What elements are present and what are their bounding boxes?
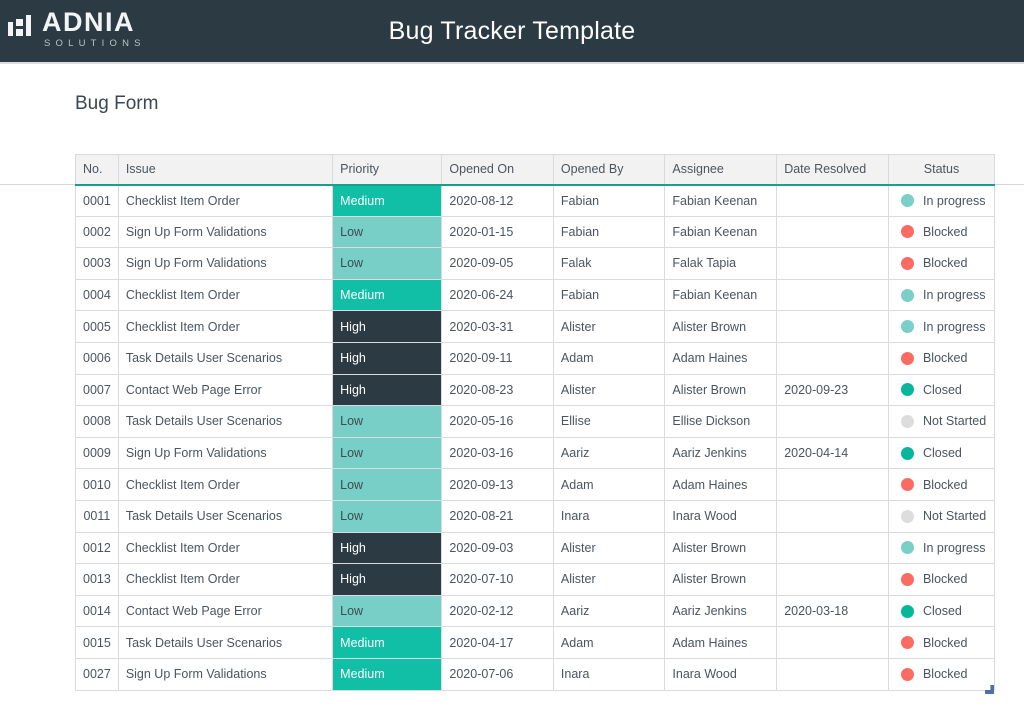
cell-date-resolved[interactable] <box>777 248 889 280</box>
cell-opened-by[interactable]: Inara <box>553 658 664 690</box>
column-header-opened-on[interactable]: Opened On <box>442 155 554 185</box>
cell-assignee[interactable]: Adam Haines <box>665 469 777 501</box>
column-header-status[interactable]: Status <box>888 155 994 185</box>
cell-opened-on[interactable]: 2020-03-31 <box>442 311 554 343</box>
cell-priority[interactable]: High <box>333 342 442 374</box>
status-dot-icon <box>901 194 914 207</box>
cell-date-resolved[interactable] <box>777 279 889 311</box>
status-label: Closed <box>923 604 962 618</box>
cell-no[interactable]: 0014 <box>76 595 119 627</box>
cell-no[interactable]: 0013 <box>76 564 119 596</box>
status-dot-icon <box>901 352 914 365</box>
cell-opened-on[interactable]: 2020-09-13 <box>442 469 554 501</box>
status-dot-icon <box>901 605 914 618</box>
cell-no[interactable]: 0012 <box>76 532 119 564</box>
status-dot-icon <box>901 573 914 586</box>
cell-no[interactable]: 0005 <box>76 311 119 343</box>
cell-issue[interactable]: Checklist Item Order <box>118 532 332 564</box>
bug-form-table: No. Issue Priority Opened On Opened By A… <box>75 154 995 691</box>
column-header-issue[interactable]: Issue <box>118 155 332 185</box>
cell-date-resolved[interactable] <box>777 342 889 374</box>
cell-opened-by[interactable]: Fabian <box>553 279 664 311</box>
cell-opened-by[interactable]: Alister <box>553 532 664 564</box>
cell-date-resolved[interactable]: 2020-03-18 <box>777 595 889 627</box>
status-dot-icon <box>901 447 914 460</box>
cell-opened-on[interactable]: 2020-07-10 <box>442 564 554 596</box>
cell-opened-by[interactable]: Adam <box>553 342 664 374</box>
cell-issue[interactable]: Checklist Item Order <box>118 279 332 311</box>
table-row[interactable]: 0006Task Details User ScenariosHigh2020-… <box>76 342 995 374</box>
cell-opened-by[interactable]: Aariz <box>553 437 664 469</box>
status-dot-icon <box>901 320 914 333</box>
status-label: Blocked <box>923 636 967 650</box>
cell-no[interactable]: 0001 <box>76 185 119 217</box>
cell-assignee[interactable]: Aariz Jenkins <box>665 437 777 469</box>
cell-no[interactable]: 0004 <box>76 279 119 311</box>
cell-opened-by[interactable]: Ellise <box>553 406 664 438</box>
cell-issue[interactable]: Sign Up Form Validations <box>118 437 332 469</box>
status-label: Not Started <box>923 509 986 523</box>
cell-priority[interactable]: High <box>333 564 442 596</box>
table-body: 0001Checklist Item OrderMedium2020-08-12… <box>76 185 995 691</box>
cell-status[interactable]: In progress <box>888 279 994 311</box>
cell-assignee[interactable]: Fabian Keenan <box>665 216 777 248</box>
cell-assignee[interactable]: Alister Brown <box>665 532 777 564</box>
cell-no[interactable]: 0006 <box>76 342 119 374</box>
table-row[interactable]: 0007Contact Web Page ErrorHigh2020-08-23… <box>76 374 995 406</box>
cell-assignee[interactable]: Adam Haines <box>665 627 777 659</box>
cell-priority[interactable]: Low <box>333 216 442 248</box>
cell-priority[interactable]: Medium <box>333 627 442 659</box>
cell-assignee[interactable]: Falak Tapia <box>665 248 777 280</box>
cell-date-resolved[interactable]: 2020-09-23 <box>777 374 889 406</box>
cell-status[interactable]: In progress <box>888 532 994 564</box>
cell-opened-by[interactable]: Falak <box>553 248 664 280</box>
cell-opened-on[interactable]: 2020-07-06 <box>442 658 554 690</box>
status-label: Closed <box>923 383 962 397</box>
cell-date-resolved[interactable] <box>777 658 889 690</box>
status-dot-icon <box>901 415 914 428</box>
cell-opened-on[interactable]: 2020-09-11 <box>442 342 554 374</box>
cell-no[interactable]: 0002 <box>76 216 119 248</box>
cell-priority[interactable]: Low <box>333 500 442 532</box>
table-row[interactable]: 0011Task Details User ScenariosLow2020-0… <box>76 500 995 532</box>
cell-opened-on[interactable]: 2020-08-23 <box>442 374 554 406</box>
status-label: Blocked <box>923 256 967 270</box>
cell-issue[interactable]: Contact Web Page Error <box>118 595 332 627</box>
cell-issue[interactable]: Checklist Item Order <box>118 311 332 343</box>
cell-assignee[interactable]: Ellise Dickson <box>665 406 777 438</box>
table-row[interactable]: 0010Checklist Item OrderLow2020-09-13Ada… <box>76 469 995 501</box>
column-header-opened-by[interactable]: Opened By <box>553 155 664 185</box>
cell-opened-by[interactable]: Adam <box>553 469 664 501</box>
status-dot-icon <box>901 510 914 523</box>
status-label: Blocked <box>923 478 967 492</box>
status-dot-icon <box>901 225 914 238</box>
cell-status[interactable]: Blocked <box>888 342 994 374</box>
cell-opened-by[interactable]: Fabian <box>553 216 664 248</box>
column-header-priority[interactable]: Priority <box>333 155 442 185</box>
table-row[interactable]: 0005Checklist Item OrderHigh2020-03-31Al… <box>76 311 995 343</box>
cell-issue[interactable]: Sign Up Form Validations <box>118 248 332 280</box>
cell-no[interactable]: 0009 <box>76 437 119 469</box>
cell-opened-on[interactable]: 2020-03-16 <box>442 437 554 469</box>
table-row[interactable]: 0013Checklist Item OrderHigh2020-07-10Al… <box>76 564 995 596</box>
table-row[interactable]: 0027Sign Up Form ValidationsMedium2020-0… <box>76 658 995 690</box>
left-rule <box>0 184 75 185</box>
status-dot-icon <box>901 478 914 491</box>
cell-date-resolved[interactable] <box>777 532 889 564</box>
cell-no[interactable]: 0015 <box>76 627 119 659</box>
header-divider <box>0 62 1024 64</box>
column-header-date-resolved[interactable]: Date Resolved <box>777 155 889 185</box>
cell-opened-by[interactable]: Alister <box>553 564 664 596</box>
cell-status[interactable]: Closed <box>888 374 994 406</box>
cell-date-resolved[interactable] <box>777 311 889 343</box>
cell-opened-on[interactable]: 2020-06-24 <box>442 279 554 311</box>
page-title: Bug Tracker Template <box>0 0 1024 62</box>
table-row[interactable]: 0015Task Details User ScenariosMedium202… <box>76 627 995 659</box>
cell-status[interactable]: Blocked <box>888 627 994 659</box>
cell-issue[interactable]: Task Details User Scenarios <box>118 406 332 438</box>
table-row[interactable]: 0012Checklist Item OrderHigh2020-09-03Al… <box>76 532 995 564</box>
cell-status[interactable]: Blocked <box>888 216 994 248</box>
cell-priority[interactable]: Low <box>333 248 442 280</box>
cell-opened-by[interactable]: Alister <box>553 311 664 343</box>
table-row[interactable]: 0014Contact Web Page ErrorLow2020-02-12A… <box>76 595 995 627</box>
cell-status[interactable]: Not Started <box>888 500 994 532</box>
cell-assignee[interactable]: Adam Haines <box>665 342 777 374</box>
cell-status[interactable]: Closed <box>888 595 994 627</box>
cell-opened-by[interactable]: Aariz <box>553 595 664 627</box>
cell-status[interactable]: Blocked <box>888 658 994 690</box>
table-row[interactable]: 0008Task Details User ScenariosLow2020-0… <box>76 406 995 438</box>
right-rule <box>995 184 1024 185</box>
cell-no[interactable]: 0027 <box>76 658 119 690</box>
cell-status[interactable]: Blocked <box>888 564 994 596</box>
cell-no[interactable]: 0008 <box>76 406 119 438</box>
cell-date-resolved[interactable] <box>777 216 889 248</box>
cell-issue[interactable]: Task Details User Scenarios <box>118 627 332 659</box>
cell-assignee[interactable]: Fabian Keenan <box>665 185 777 217</box>
cell-status[interactable]: Blocked <box>888 469 994 501</box>
status-label: In progress <box>923 288 986 302</box>
cell-status[interactable]: In progress <box>888 311 994 343</box>
cell-opened-on[interactable]: 2020-09-03 <box>442 532 554 564</box>
cell-status[interactable]: In progress <box>888 185 994 217</box>
cell-date-resolved[interactable] <box>777 185 889 217</box>
cell-issue[interactable]: Contact Web Page Error <box>118 374 332 406</box>
cell-opened-on[interactable]: 2020-09-05 <box>442 248 554 280</box>
cell-date-resolved[interactable] <box>777 564 889 596</box>
cell-issue[interactable]: Task Details User Scenarios <box>118 500 332 532</box>
cell-priority[interactable]: Medium <box>333 185 442 217</box>
cell-status[interactable]: Closed <box>888 437 994 469</box>
cell-opened-on[interactable]: 2020-01-15 <box>442 216 554 248</box>
status-dot-icon <box>901 668 914 681</box>
cell-priority[interactable]: High <box>333 374 442 406</box>
cell-issue[interactable]: Checklist Item Order <box>118 469 332 501</box>
column-header-no[interactable]: No. <box>76 155 119 185</box>
cell-priority[interactable]: Low <box>333 469 442 501</box>
app-header-bar: ADNIA SOLUTIONS Bug Tracker Template <box>0 0 1024 62</box>
cell-priority[interactable]: Low <box>333 437 442 469</box>
cell-opened-by[interactable]: Alister <box>553 374 664 406</box>
cell-opened-by[interactable]: Inara <box>553 500 664 532</box>
cell-opened-on[interactable]: 2020-04-17 <box>442 627 554 659</box>
cell-date-resolved[interactable]: 2020-04-14 <box>777 437 889 469</box>
status-dot-icon <box>901 257 914 270</box>
status-label: Blocked <box>923 225 967 239</box>
status-label: In progress <box>923 541 986 555</box>
cell-date-resolved[interactable] <box>777 406 889 438</box>
table-row[interactable]: 0004Checklist Item OrderMedium2020-06-24… <box>76 279 995 311</box>
cell-opened-on[interactable]: 2020-05-16 <box>442 406 554 438</box>
table-row[interactable]: 0009Sign Up Form ValidationsLow2020-03-1… <box>76 437 995 469</box>
cell-issue[interactable]: Task Details User Scenarios <box>118 342 332 374</box>
cell-status[interactable]: Blocked <box>888 248 994 280</box>
cell-priority[interactable]: Low <box>333 406 442 438</box>
status-dot-icon <box>901 636 914 649</box>
cell-assignee[interactable]: Alister Brown <box>665 311 777 343</box>
cell-assignee[interactable]: Fabian Keenan <box>665 279 777 311</box>
cell-issue[interactable]: Sign Up Form Validations <box>118 216 332 248</box>
table-row[interactable]: 0001Checklist Item OrderMedium2020-08-12… <box>76 185 995 217</box>
status-label: Blocked <box>923 351 967 365</box>
cell-date-resolved[interactable] <box>777 469 889 501</box>
status-label: Not Started <box>923 414 986 428</box>
cell-opened-on[interactable]: 2020-08-21 <box>442 500 554 532</box>
column-header-assignee[interactable]: Assignee <box>665 155 777 185</box>
cell-opened-on[interactable]: 2020-02-12 <box>442 595 554 627</box>
status-label: In progress <box>923 194 986 208</box>
section-title: Bug Form <box>75 93 158 115</box>
cell-priority[interactable]: High <box>333 311 442 343</box>
cell-date-resolved[interactable] <box>777 627 889 659</box>
cell-no[interactable]: 0007 <box>76 374 119 406</box>
cell-priority[interactable]: Low <box>333 595 442 627</box>
status-label: In progress <box>923 320 986 334</box>
cell-assignee[interactable]: Alister Brown <box>665 564 777 596</box>
cell-issue[interactable]: Sign Up Form Validations <box>118 658 332 690</box>
cell-assignee[interactable]: Aariz Jenkins <box>665 595 777 627</box>
cell-no[interactable]: 0003 <box>76 248 119 280</box>
cell-no[interactable]: 0011 <box>76 500 119 532</box>
cell-status[interactable]: Not Started <box>888 406 994 438</box>
table-header-row: No. Issue Priority Opened On Opened By A… <box>76 155 995 185</box>
status-dot-icon <box>901 383 914 396</box>
cell-assignee[interactable]: Alister Brown <box>665 374 777 406</box>
cell-opened-by[interactable]: Adam <box>553 627 664 659</box>
status-label: Closed <box>923 446 962 460</box>
cell-assignee[interactable]: Inara Wood <box>665 500 777 532</box>
cell-priority[interactable]: Medium <box>333 658 442 690</box>
status-dot-icon <box>901 289 914 302</box>
status-label: Blocked <box>923 572 967 586</box>
cell-no[interactable]: 0010 <box>76 469 119 501</box>
cell-issue[interactable]: Checklist Item Order <box>118 564 332 596</box>
cell-priority[interactable]: High <box>333 532 442 564</box>
table-row[interactable]: 0003Sign Up Form ValidationsLow2020-09-0… <box>76 248 995 280</box>
cell-assignee[interactable]: Inara Wood <box>665 658 777 690</box>
cell-date-resolved[interactable] <box>777 500 889 532</box>
table-row[interactable]: 0002Sign Up Form ValidationsLow2020-01-1… <box>76 216 995 248</box>
cell-priority[interactable]: Medium <box>333 279 442 311</box>
status-label: Blocked <box>923 667 967 681</box>
cell-opened-on[interactable]: 2020-08-12 <box>442 185 554 217</box>
status-dot-icon <box>901 541 914 554</box>
cell-opened-by[interactable]: Fabian <box>553 185 664 217</box>
cell-issue[interactable]: Checklist Item Order <box>118 185 332 217</box>
